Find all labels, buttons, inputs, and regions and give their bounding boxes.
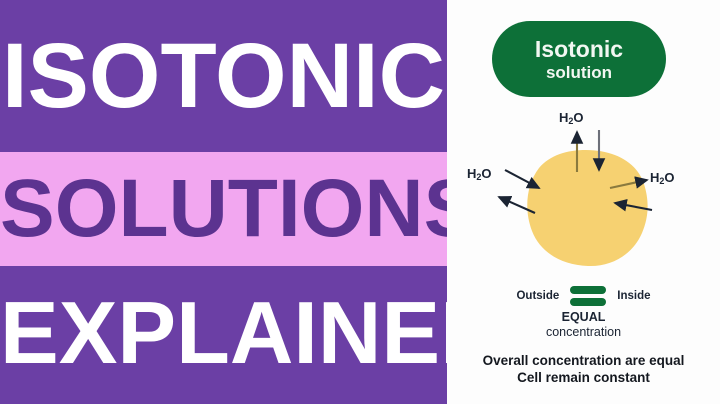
badge-title: Isotonic [535, 36, 623, 62]
h2o-label-right: H2O [650, 170, 675, 185]
title-line-explained: EXPLAINED [0, 272, 447, 394]
equals-icon [570, 286, 606, 306]
cell-svg [447, 100, 720, 280]
poster-canvas: ISOTONIC SOLUTIONS EXPLAINED Isotonic so… [0, 0, 720, 404]
title-line-solutions: SOLUTIONS [0, 158, 447, 260]
cell-body [527, 150, 647, 266]
summary-line-2: Cell remain constant [447, 369, 720, 386]
legend-label-inside: Inside [617, 290, 650, 302]
h2o-label-top: H2O [559, 110, 584, 125]
legend-label-outside: Outside [516, 290, 559, 302]
title-panel: ISOTONIC SOLUTIONS EXPLAINED [0, 0, 447, 404]
h2o-label-left: H2O [467, 166, 492, 181]
cell-diagram: H2O H2O H2O [447, 100, 720, 280]
equal-keyword: EQUAL [447, 310, 720, 324]
badge-subtitle: solution [546, 63, 612, 83]
isotonic-solution-badge: Isotonic solution [492, 21, 666, 97]
diagram-panel: Isotonic solution [447, 0, 720, 404]
concentration-legend: Outside Inside [447, 281, 720, 311]
concentration-keyword: concentration [447, 325, 720, 339]
summary-line-1: Overall concentration are equal [447, 352, 720, 369]
equals-bar-top [570, 286, 606, 294]
title-line-isotonic: ISOTONIC [0, 12, 447, 140]
summary-text: Overall concentration are equal Cell rem… [447, 352, 720, 386]
equals-bar-bottom [570, 298, 606, 306]
